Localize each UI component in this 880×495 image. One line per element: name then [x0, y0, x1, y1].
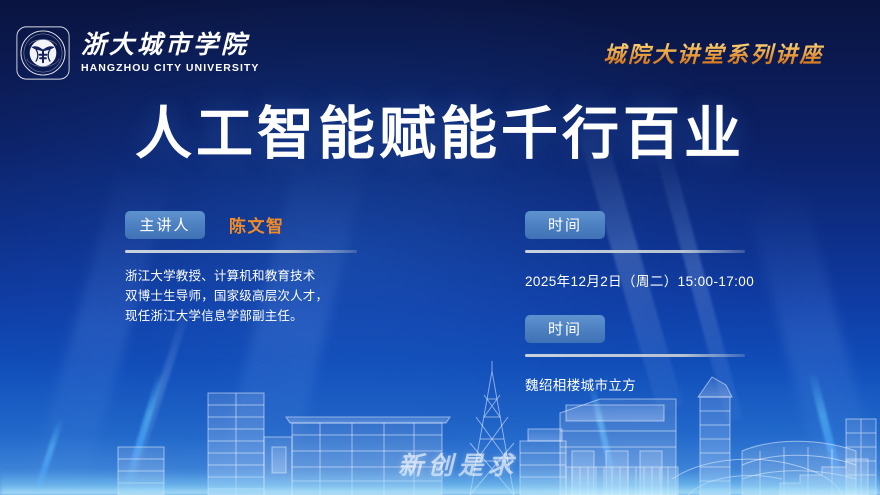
bottom-edge-glow: [0, 469, 880, 495]
light-beam-cyan-center: [121, 371, 165, 495]
page-title: 人工智能赋能千行百业: [0, 106, 880, 163]
university-seal-icon: [14, 24, 72, 82]
venue-divider: [525, 354, 745, 357]
speaker-divider: [125, 250, 357, 253]
lecture-series-title: 城院大讲堂系列讲座: [603, 37, 824, 69]
lecture-poster: 新创是求 浙大城市学院 HANGZHOU CITY UNIVERSITY: [0, 0, 880, 495]
poster-header: 浙大城市学院 HANGZHOU CITY UNIVERSITY 城院大讲堂系列讲…: [0, 0, 880, 100]
speaker-block: 主讲人 陈文智 浙江大学教授、计算机和教育技术 双博士生导师，国家级高层次人才，…: [125, 210, 375, 326]
university-name-cn: 浙大城市学院: [81, 32, 259, 59]
speaker-bio-line: 浙江大学教授、计算机和教育技术: [125, 267, 375, 287]
speaker-label-badge: 主讲人: [125, 211, 205, 239]
speaker-label-row: 主讲人 陈文智: [125, 210, 375, 239]
speaker-bio-line: 现任浙江大学信息学部副主任。: [125, 307, 375, 327]
light-beam-cyan-right-2: [588, 381, 619, 493]
speaker-bio: 浙江大学教授、计算机和教育技术 双博士生导师，国家级高层次人才， 现任浙江大学信…: [125, 267, 375, 326]
light-beam-pale-a: [124, 299, 193, 492]
university-name-en: HANGZHOU CITY UNIVERSITY: [81, 62, 259, 74]
light-beam-cyan-right: [808, 371, 846, 495]
event-details-block: 时间 2025年12月2日（周二）15:00-17:00 时间 魏绍相楼城市立方: [525, 210, 775, 394]
campus-motto-watermark: 新创是求: [398, 446, 518, 482]
venue-label-row: 时间: [525, 314, 775, 343]
speaker-bio-line: 双博士生导师，国家级高层次人才，: [125, 287, 375, 307]
time-divider: [525, 250, 745, 253]
time-label-badge: 时间: [525, 211, 605, 239]
university-wordmark: 浙大城市学院 HANGZHOU CITY UNIVERSITY: [81, 32, 259, 74]
time-label-row: 时间: [525, 210, 775, 239]
event-time-value: 2025年12月2日（周二）15:00-17:00: [525, 270, 775, 290]
speaker-name: 陈文智: [229, 212, 285, 237]
university-logo-lockup: 浙大城市学院 HANGZHOU CITY UNIVERSITY: [14, 24, 259, 82]
event-venue-value: 魏绍相楼城市立方: [525, 374, 775, 394]
venue-label-badge: 时间: [525, 315, 605, 343]
light-beam-cyan-left: [30, 417, 64, 495]
